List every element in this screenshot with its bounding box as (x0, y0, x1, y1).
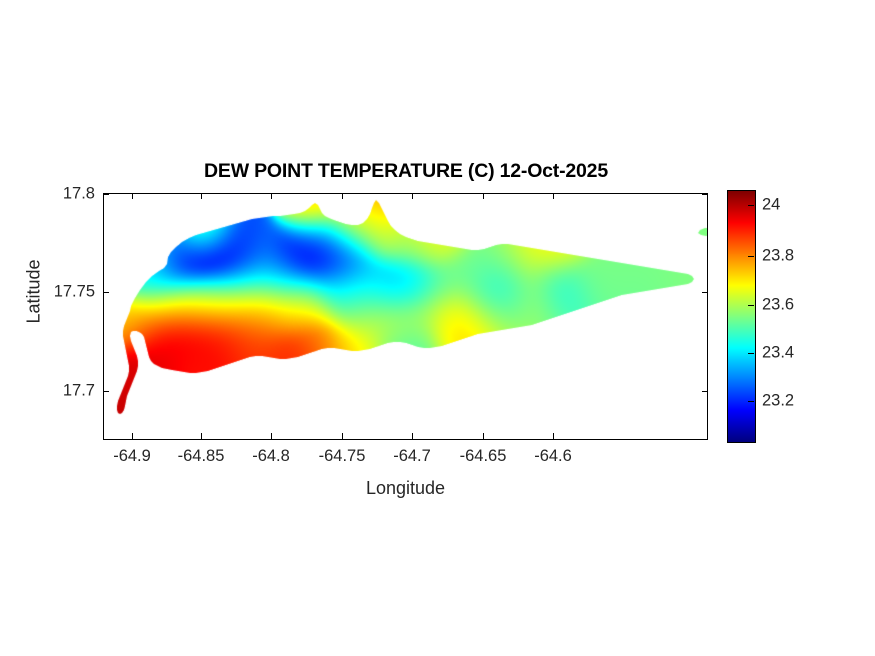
yticklabel-1: 17.8 (63, 185, 95, 204)
map-axes[interactable] (103, 193, 708, 440)
colorbar-tick-2 (748, 256, 754, 257)
xticklabel-6: -64.65 (460, 447, 507, 466)
yticklabel-3: 17.7 (63, 382, 95, 401)
ytick-left-2 (103, 292, 109, 293)
xticklabel-7: -64.6 (534, 447, 572, 466)
colorbar-tick-1 (748, 205, 754, 206)
colorbar-gradient (728, 191, 755, 442)
colorbar-tick-3 (748, 305, 754, 306)
xtick-bottom-7 (553, 433, 554, 439)
colorbar-tick-4 (748, 353, 754, 354)
ytick-left-3 (103, 391, 109, 392)
xtick-top-1 (132, 193, 133, 199)
x-axis-label: Longitude (103, 478, 708, 499)
page-title: DEW POINT TEMPERATURE (C) 12-Oct-2025 (103, 160, 709, 183)
colorbar-label-5: 23.2 (762, 392, 794, 411)
figure-canvas: DEW POINT TEMPERATURE (C) 12-Oct-2025 -6… (0, 0, 875, 656)
xticklabel-4: -64.75 (319, 447, 366, 466)
xticklabel-2: -64.85 (178, 447, 225, 466)
y-axis-label: Latitude (24, 232, 45, 352)
xtick-top-4 (342, 193, 343, 199)
ytick-left-1 (103, 194, 109, 195)
xtick-top-5 (412, 193, 413, 199)
xtick-bottom-5 (412, 433, 413, 439)
ytick-right-1 (702, 194, 708, 195)
xtick-bottom-3 (271, 433, 272, 439)
xtick-top-7 (553, 193, 554, 199)
ytick-right-3 (702, 391, 708, 392)
xtick-bottom-6 (483, 433, 484, 439)
xticklabel-5: -64.7 (393, 447, 431, 466)
ytick-right-2 (702, 292, 708, 293)
colorbar-label-4: 23.4 (762, 344, 794, 363)
xtick-bottom-1 (132, 433, 133, 439)
xtick-bottom-4 (342, 433, 343, 439)
xtick-top-3 (271, 193, 272, 199)
xticklabel-3: -64.8 (252, 447, 290, 466)
colorbar-label-1: 24 (762, 196, 780, 215)
dew-point-heatmap (104, 194, 708, 440)
colorbar-label-2: 23.8 (762, 247, 794, 266)
yticklabel-2: 17.75 (54, 283, 95, 302)
colorbar[interactable] (727, 190, 756, 443)
xtick-top-2 (201, 193, 202, 199)
colorbar-tick-5 (748, 401, 754, 402)
colorbar-label-3: 23.6 (762, 296, 794, 315)
xtick-bottom-2 (201, 433, 202, 439)
xtick-top-6 (483, 193, 484, 199)
xticklabel-1: -64.9 (113, 447, 151, 466)
